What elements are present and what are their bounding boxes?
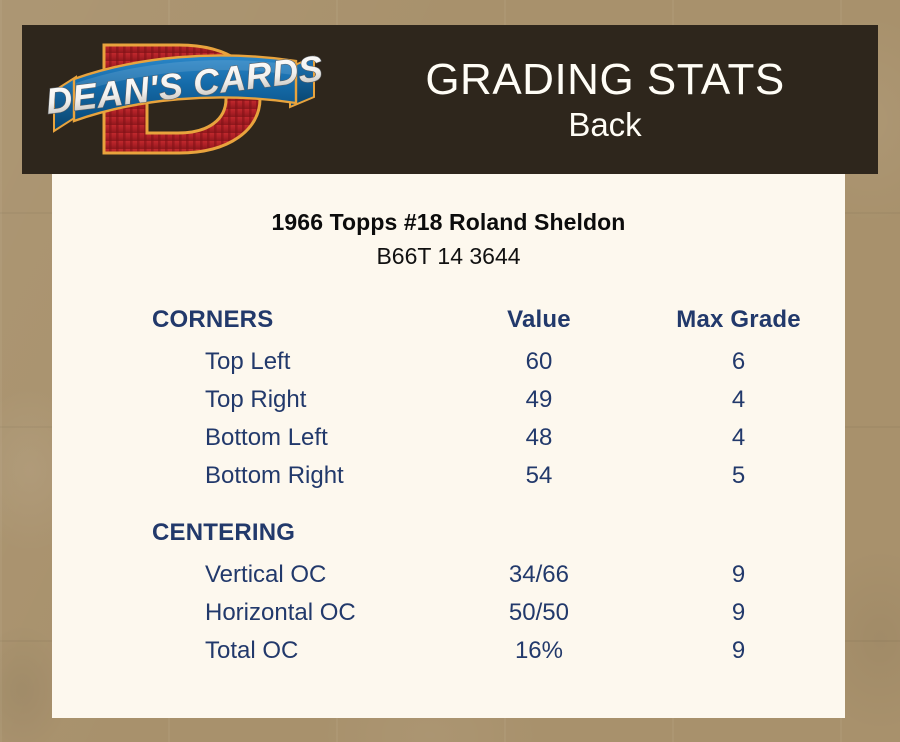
row-value: 49 bbox=[446, 381, 632, 419]
section-title: CENTERING bbox=[52, 509, 446, 556]
header-bar: DEAN'S CARDS GRADING STATS Back bbox=[22, 25, 878, 174]
row-max-grade: 9 bbox=[632, 594, 845, 632]
card-code: B66T 14 3644 bbox=[52, 243, 845, 270]
row-value: 60 bbox=[446, 343, 632, 381]
page-title: GRADING STATS bbox=[425, 56, 784, 104]
table-row: Top Right494 bbox=[52, 381, 845, 419]
column-header-value: Value bbox=[446, 296, 632, 343]
section-header-row: CENTERING bbox=[52, 509, 845, 556]
grading-stats-table: CORNERSValueMax GradeTop Left606Top Righ… bbox=[52, 296, 845, 670]
section-spacer bbox=[52, 495, 845, 509]
spacer-cell bbox=[52, 495, 845, 509]
row-max-grade: 6 bbox=[632, 343, 845, 381]
table-row: Top Left606 bbox=[52, 343, 845, 381]
section-header-row: CORNERSValueMax Grade bbox=[52, 296, 845, 343]
page-subtitle: Back bbox=[568, 107, 641, 143]
row-value: 54 bbox=[446, 457, 632, 495]
row-label: Bottom Right bbox=[52, 457, 446, 495]
row-label: Vertical OC bbox=[52, 556, 446, 594]
row-label: Top Right bbox=[52, 381, 446, 419]
row-max-grade: 4 bbox=[632, 381, 845, 419]
row-max-grade: 9 bbox=[632, 556, 845, 594]
section-title: CORNERS bbox=[52, 296, 446, 343]
table-row: Horizontal OC50/509 bbox=[52, 594, 845, 632]
content-panel: 1966 Topps #18 Roland Sheldon B66T 14 36… bbox=[52, 174, 845, 718]
row-value: 48 bbox=[446, 419, 632, 457]
table-row: Bottom Right545 bbox=[52, 457, 845, 495]
header-title-group: GRADING STATS Back bbox=[332, 25, 878, 174]
column-header-max-grade: Max Grade bbox=[632, 296, 845, 343]
table-row: Vertical OC34/669 bbox=[52, 556, 845, 594]
row-value: 16% bbox=[446, 632, 632, 670]
row-label: Horizontal OC bbox=[52, 594, 446, 632]
row-label: Total OC bbox=[52, 632, 446, 670]
column-header-value bbox=[446, 509, 632, 556]
row-value: 34/66 bbox=[446, 556, 632, 594]
row-label: Top Left bbox=[52, 343, 446, 381]
row-label: Bottom Left bbox=[52, 419, 446, 457]
table-row: Bottom Left484 bbox=[52, 419, 845, 457]
row-max-grade: 9 bbox=[632, 632, 845, 670]
row-max-grade: 4 bbox=[632, 419, 845, 457]
card-title: 1966 Topps #18 Roland Sheldon bbox=[52, 209, 845, 236]
column-header-max-grade bbox=[632, 509, 845, 556]
grading-stats-body: CORNERSValueMax GradeTop Left606Top Righ… bbox=[52, 296, 845, 670]
row-max-grade: 5 bbox=[632, 457, 845, 495]
table-row: Total OC16%9 bbox=[52, 632, 845, 670]
row-value: 50/50 bbox=[446, 594, 632, 632]
deans-cards-logo[interactable]: DEAN'S CARDS bbox=[46, 29, 324, 169]
